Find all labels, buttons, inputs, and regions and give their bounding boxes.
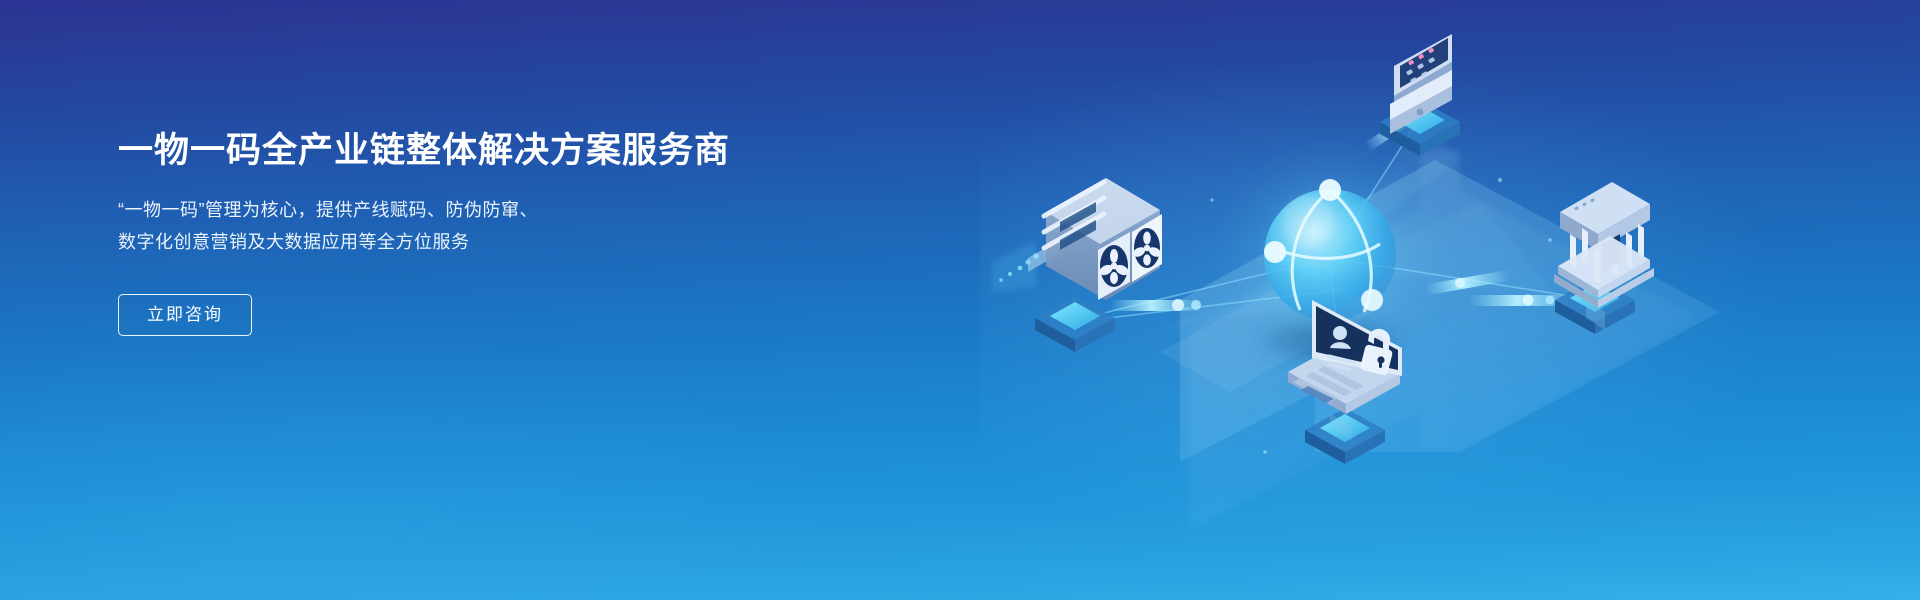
page-title: 一物一码全产业链整体解决方案服务商 xyxy=(118,130,738,172)
server-rack-fans-icon xyxy=(992,178,1163,300)
background-glow-left xyxy=(0,330,900,600)
hero-copy: 一物一码全产业链整体解决方案服务商 “一物一码”管理为核心，提供产线赋码、防伪防… xyxy=(118,130,738,336)
consult-now-button[interactable]: 立即咨询 xyxy=(118,294,252,336)
subtitle-line-2: 数字化创意营销及大数据应用等全方位服务 xyxy=(118,226,738,258)
hero-banner: 一物一码全产业链整体解决方案服务商 “一物一码”管理为核心，提供产线赋码、防伪防… xyxy=(0,0,1920,600)
cta-container: 立即咨询 xyxy=(118,294,738,336)
subtitle-line-1: “一物一码”管理为核心，提供产线赋码、防伪防窜、 xyxy=(118,194,738,226)
hero-illustration xyxy=(860,0,1920,600)
pedestal-left xyxy=(1035,296,1115,352)
